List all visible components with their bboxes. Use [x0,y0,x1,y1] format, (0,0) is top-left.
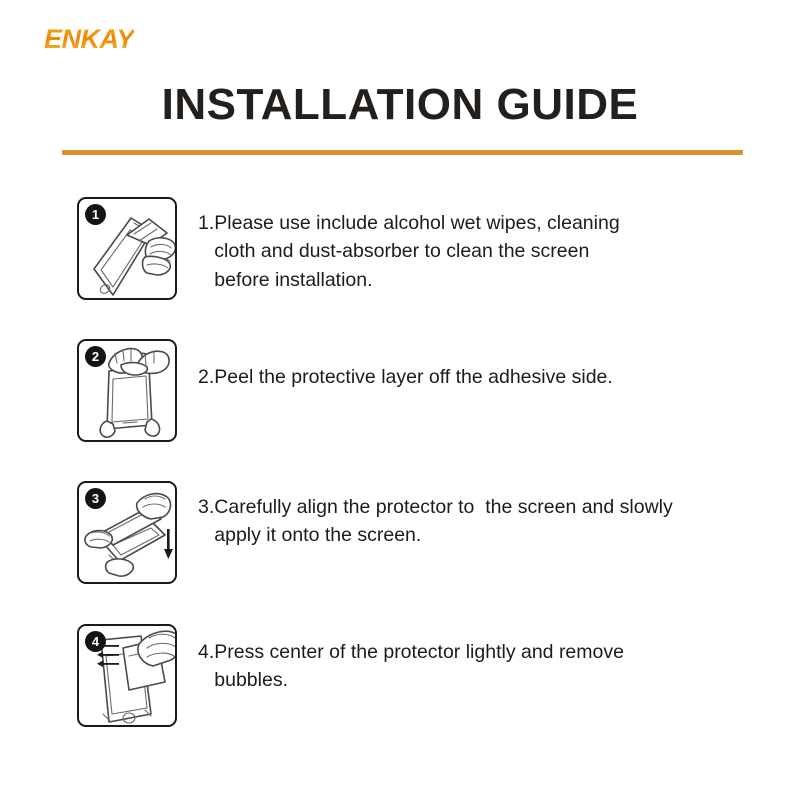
illustration-hand-wiping-phone-with-cloth: 1 [77,197,177,300]
step-text-2: 2.Peel the protective layer off the adhe… [198,339,613,391]
step-text-1: 1.Please use include alcohol wet wipes, … [198,197,620,294]
page-title: INSTALLATION GUIDE [0,81,800,129]
step-badge-3: 3 [85,488,106,509]
step-badge-1: 1 [85,204,106,225]
step-text-4: 4.Press center of the protector lightly … [198,624,624,695]
enkay-brand-logo: ENKAY [44,26,134,53]
step-text-3: 3.Carefully align the protector to the s… [198,481,673,550]
step-badge-4: 4 [85,631,106,652]
illustration-hands-peeling-protective-layer: 2 [77,339,177,442]
step-item-1: 1 1.Please use include alcohol we [0,197,800,300]
step-item-2: 2 [0,339,800,442]
step-badge-2: 2 [85,346,106,367]
illustration-pressing-center-removing-bubbles: 4 [77,624,177,727]
title-divider-rule [62,150,743,155]
step-item-3: 3 [0,481,800,584]
step-item-4: 4 [0,624,800,727]
illustration-aligning-protector-with-down-arrow: 3 [77,481,177,584]
